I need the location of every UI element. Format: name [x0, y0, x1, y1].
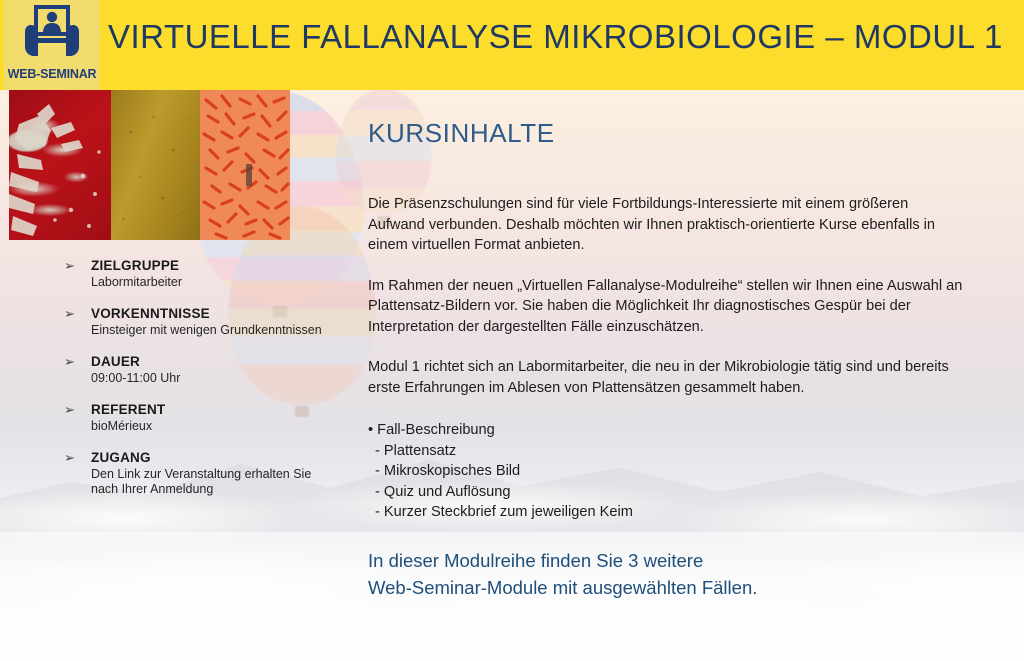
person-in-screen-held-by-hands-icon	[19, 3, 85, 66]
list-item-zielgruppe: ➢ ZIELGRUPPE Labormitarbeiter	[64, 258, 364, 290]
footer-note-line-2: Web-Seminar-Module mit ausgewählten Fäll…	[368, 574, 928, 601]
detail-label: REFERENT	[91, 402, 364, 417]
topics-list: • Fall-Beschreibung - Plattensatz - Mikr…	[368, 420, 968, 523]
content-paragraph-1: Die Präsenzschulungen sind für viele For…	[368, 194, 968, 256]
list-item-zugang: ➢ ZUGANG Den Link zur Veranstaltung erha…	[64, 450, 364, 497]
topic-sub-item: - Plattensatz	[368, 441, 968, 462]
topic-sub-item: - Quiz und Auflösung	[368, 482, 968, 503]
detail-label: ZIELGRUPPE	[91, 258, 364, 273]
course-content-column: KURSINHALTE Die Präsenzschulungen sind f…	[368, 118, 968, 523]
footer-note: In dieser Modulreihe finden Sie 3 weiter…	[368, 547, 928, 601]
list-item-vorkenntnisse: ➢ VORKENNTNISSE Einsteiger mit wenigen G…	[64, 306, 364, 338]
presentation-slide: WEB-SEMINAR VIRTUELLE FALLANALYSE MIKROB…	[0, 0, 1024, 661]
detail-label: DAUER	[91, 354, 364, 369]
gram-stain-texture	[200, 90, 290, 240]
arrow-bullet-icon: ➢	[64, 403, 75, 417]
course-details-list: ➢ ZIELGRUPPE Labormitarbeiter ➢ VORKENNT…	[64, 258, 364, 513]
topic-sub-item: - Mikroskopisches Bild	[368, 461, 968, 482]
footer-note-line-1: In dieser Modulreihe finden Sie 3 weiter…	[368, 547, 928, 574]
section-heading-kursinhalte: KURSINHALTE	[368, 118, 968, 148]
detail-value: Einsteiger mit wenigen Grundkenntnissen	[91, 323, 364, 338]
arrow-bullet-icon: ➢	[64, 355, 75, 369]
list-item-dauer: ➢ DAUER 09:00-11:00 Uhr	[64, 354, 364, 386]
web-seminar-logo: WEB-SEMINAR	[4, 0, 100, 90]
detail-value: Den Link zur Veranstaltung erhalten Sie …	[91, 467, 364, 497]
content-paragraph-3: Modul 1 richtet sich an Labormitarbeiter…	[368, 357, 968, 398]
arrow-bullet-icon: ➢	[64, 451, 75, 465]
selective-agar-plate-image	[111, 90, 200, 240]
detail-value: Labormitarbeiter	[91, 275, 364, 290]
page-title: VIRTUELLE FALLANALYSE MIKROBIOLOGIE – MO…	[108, 18, 1003, 56]
arrow-bullet-icon: ➢	[64, 307, 75, 321]
selective-agar-texture	[111, 90, 200, 240]
logo-caption: WEB-SEMINAR	[8, 67, 97, 81]
list-item-referent: ➢ REFERENT bioMérieux	[64, 402, 364, 434]
detail-label: VORKENNTNISSE	[91, 306, 364, 321]
content-paragraph-2: Im Rahmen der neuen „Virtuellen Fallanal…	[368, 276, 968, 338]
gram-stain-micrograph-image	[200, 90, 290, 240]
topic-sub-item: - Kurzer Steckbrief zum jeweiligen Keim	[368, 502, 968, 523]
arrow-bullet-icon: ➢	[64, 259, 75, 273]
topic-main-item: • Fall-Beschreibung	[368, 420, 968, 441]
blood-agar-plate-image	[9, 90, 111, 240]
micrograph-image-strip	[9, 90, 290, 240]
detail-value: 09:00-11:00 Uhr	[91, 371, 364, 386]
detail-label: ZUGANG	[91, 450, 364, 465]
detail-value: bioMérieux	[91, 419, 364, 434]
